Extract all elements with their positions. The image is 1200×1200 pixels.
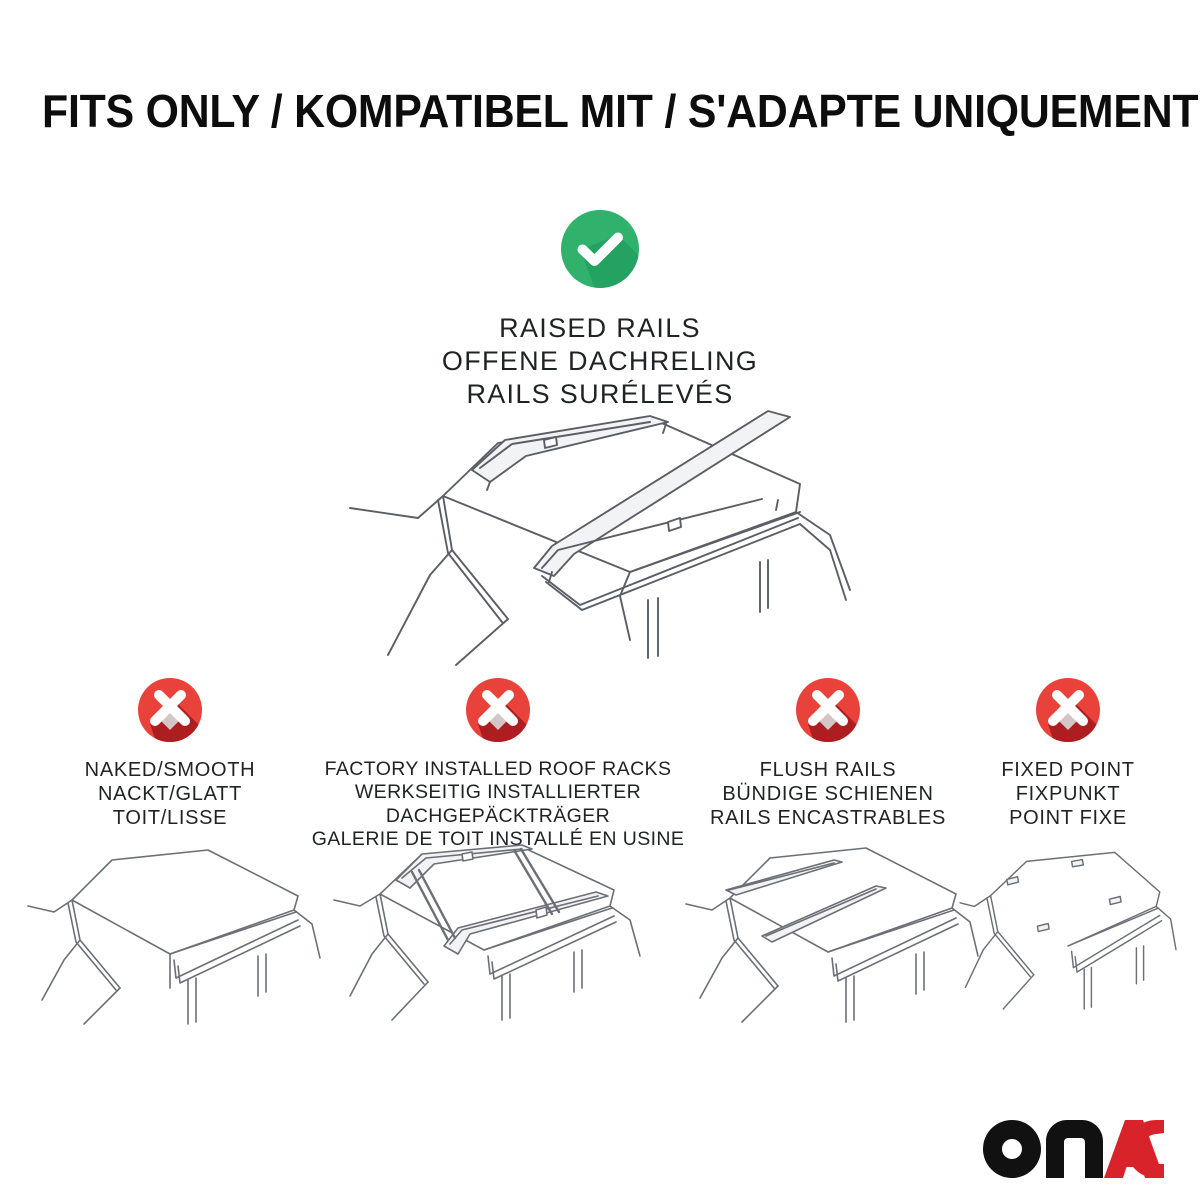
label-de: NACKT/GLATT (20, 782, 320, 806)
omac-logo (982, 1118, 1168, 1182)
column-labels: NAKED/SMOOTH NACKT/GLATT TOIT/LISSE (20, 758, 320, 830)
label-en: FACTORY INSTALLED ROOF RACKS (308, 758, 688, 781)
incompatible-section: NAKED/SMOOTH NACKT/GLATT TOIT/LISSE (0, 676, 1200, 1096)
x-circle-icon (1034, 676, 1102, 744)
label-en: NAKED/SMOOTH (20, 758, 320, 782)
car-roof-fixed-point-illustration (960, 828, 1176, 1028)
column-labels: FIXED POINT FIXPUNKT POINT FIXE (960, 758, 1176, 830)
x-circle-icon (136, 676, 204, 744)
label-de-1: WERKSEITIG INSTALLIERTER (308, 781, 688, 804)
compatible-label-en: RAISED RAILS (0, 312, 1200, 345)
label-fr: TOIT/LISSE (20, 806, 320, 830)
car-roof-with-factory-crossbars-illustration (308, 828, 688, 1028)
car-roof-with-raised-rails-illustration (330, 400, 870, 680)
compatible-labels: RAISED RAILS OFFENE DACHRELING RAILS SUR… (0, 312, 1200, 411)
incompatible-column-fixed-point: FIXED POINT FIXPUNKT POINT FIXE (960, 676, 1176, 830)
compatible-section: RAISED RAILS OFFENE DACHRELING RAILS SUR… (0, 208, 1200, 411)
x-circle-icon (794, 676, 862, 744)
x-circle-icon (464, 676, 532, 744)
label-fr: POINT FIXE (960, 806, 1176, 830)
label-en: FIXED POINT (960, 758, 1176, 782)
check-circle-icon (559, 208, 641, 290)
incompatible-column-factory-roof-racks: FACTORY INSTALLED ROOF RACKS WERKSEITIG … (308, 676, 688, 852)
compatible-label-de: OFFENE DACHRELING (0, 345, 1200, 378)
car-roof-naked-smooth-illustration (20, 828, 320, 1028)
label-de-2: DACHGEPÄCKTRÄGER (308, 805, 688, 828)
incompatible-column-flush-rails: FLUSH RAILS BÜNDIGE SCHIENEN RAILS ENCAS… (676, 676, 980, 830)
label-en: FLUSH RAILS (676, 758, 980, 782)
label-de: BÜNDIGE SCHIENEN (676, 782, 980, 806)
car-roof-flush-rails-illustration (676, 828, 980, 1028)
incompatible-column-naked-smooth: NAKED/SMOOTH NACKT/GLATT TOIT/LISSE (20, 676, 320, 830)
label-fr: RAILS ENCASTRABLES (676, 806, 980, 830)
column-labels: FLUSH RAILS BÜNDIGE SCHIENEN RAILS ENCAS… (676, 758, 980, 830)
label-de: FIXPUNKT (960, 782, 1176, 806)
page-title: FITS ONLY / KOMPATIBEL MIT / S'ADAPTE UN… (42, 84, 1158, 138)
